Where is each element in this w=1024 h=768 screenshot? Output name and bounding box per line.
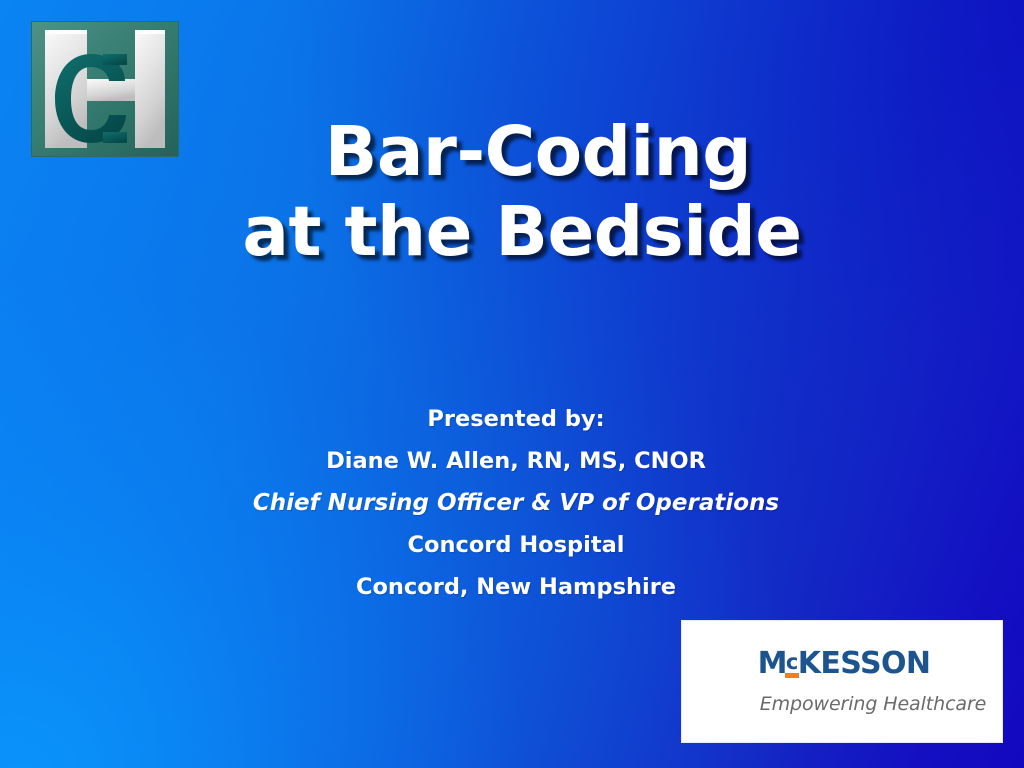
mckesson-wordmark-m: M [758, 646, 787, 681]
mckesson-wordmark-kesson: KESSON [798, 646, 931, 681]
organization-location: Concord, New Hampshire [8, 566, 1024, 608]
mckesson-superscript-c-group: c [786, 652, 798, 673]
mckesson-superscript-c: c [786, 650, 798, 674]
mckesson-logo: McKESSON Empowering Healthcare [682, 621, 1002, 742]
organization-name: Concord Hospital [8, 524, 1024, 566]
concord-hospital-logo [31, 21, 179, 157]
title-line-2: at the Bedside [0, 192, 1024, 272]
mckesson-orange-accent-bar [785, 673, 799, 678]
presenter-title: Chief Nursing Officer & VP of Operations [8, 482, 1024, 524]
presentation-slide: Bar-Coding at the Bedside Presented by: … [0, 0, 1024, 768]
presenter-name: Diane W. Allen, RN, MS, CNOR [8, 440, 1024, 482]
mckesson-tagline: Empowering Healthcare [760, 693, 987, 715]
slide-subtitle-block: Presented by: Diane W. Allen, RN, MS, CN… [0, 398, 1024, 608]
mckesson-wordmark: McKESSON [758, 649, 931, 679]
presented-by-label: Presented by: [8, 398, 1024, 440]
